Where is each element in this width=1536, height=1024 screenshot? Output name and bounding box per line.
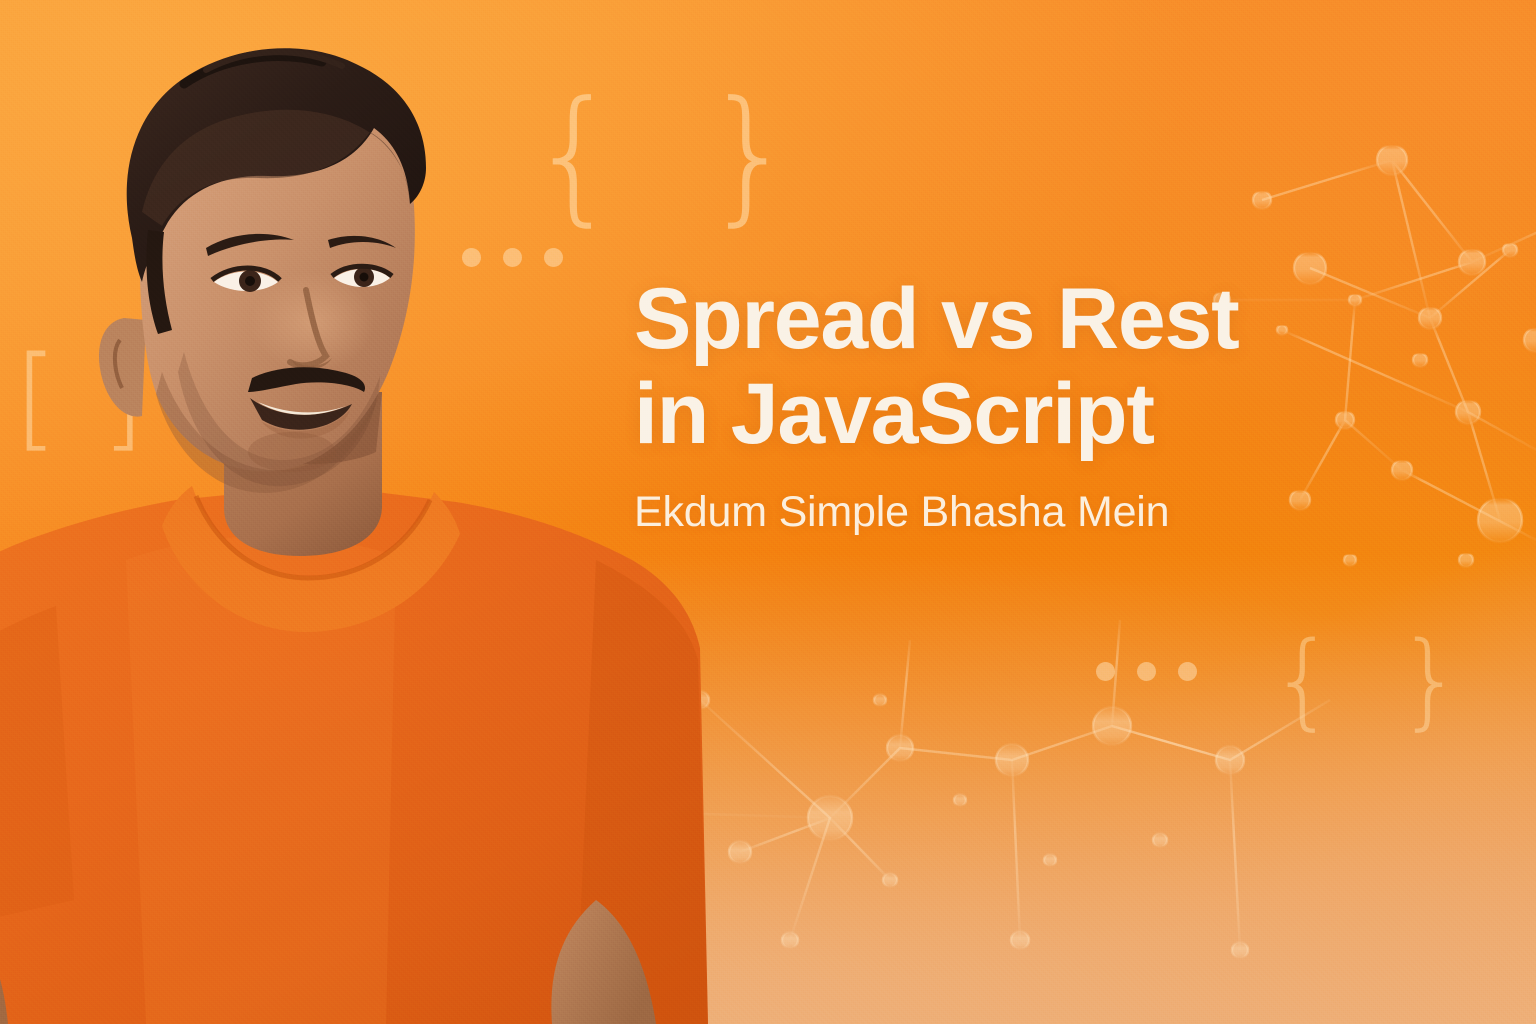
banner-canvas: { } [ ] { }	[0, 0, 1536, 1024]
noise-texture-overlay	[0, 0, 1536, 1024]
